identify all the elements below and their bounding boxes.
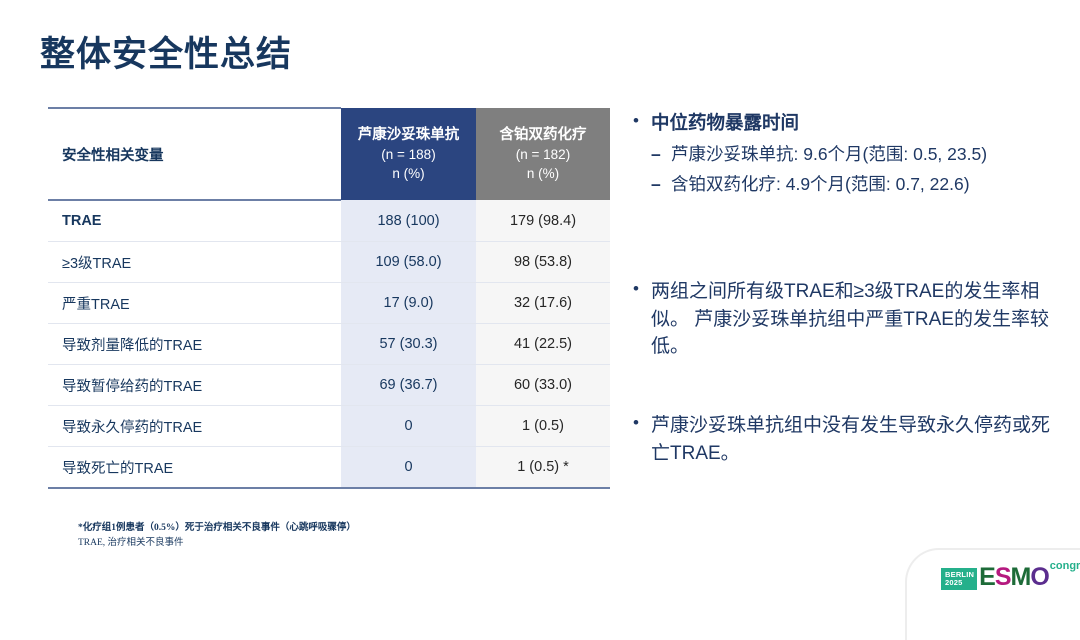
bullet-dot-icon: • — [633, 277, 639, 302]
bullet-item-exposure: • 中位药物暴露时间 – 芦康沙妥珠单抗: 9.6个月(范围: 0.5, 23.… — [631, 110, 1061, 197]
bullet-heading-exposure: 中位药物暴露时间 — [651, 112, 799, 133]
row-value-chemotherapy: 179 (98.4) — [476, 200, 610, 242]
row-label: TRAE — [48, 200, 341, 242]
row-label: 导致永久停药的TRAE — [48, 406, 341, 447]
row-label: ≥3级TRAE — [48, 242, 341, 283]
table-row: 导致死亡的TRAE 0 1 (0.5) * — [48, 447, 610, 488]
table-row: TRAE 188 (100) 179 (98.4) — [48, 200, 610, 242]
row-value-chemotherapy: 60 (33.0) — [476, 365, 610, 406]
table-row: 导致剂量降低的TRAE 57 (30.3) 41 (22.5) — [48, 324, 610, 365]
table-header-row: 安全性相关变量 芦康沙妥珠单抗 (n = 188) n (%) 含铂双药化疗 (… — [48, 108, 610, 200]
bullet-dot-icon: • — [633, 109, 639, 134]
key-points-block-2: • 两组之间所有级TRAE和≥3级TRAE的发生率相似。 芦康沙妥珠单抗组中严重… — [631, 278, 1051, 361]
esmo-letter-o: O — [1030, 565, 1048, 590]
esmo-letter-m: M — [1011, 565, 1031, 590]
sub-bullet-chemotherapy: – 含铂双药化疗: 4.9个月(范围: 0.7, 22.6) — [651, 173, 1061, 196]
key-points-block-3: • 芦康沙妥珠单抗组中没有发生导致永久停药或死亡TRAE。 — [631, 412, 1051, 467]
bullet-text-incidence: 两组之间所有级TRAE和≥3级TRAE的发生率相似。 芦康沙妥珠单抗组中严重TR… — [651, 281, 1049, 357]
berlin-2025-badge: BERLIN 2025 — [941, 568, 977, 590]
row-label: 严重TRAE — [48, 283, 341, 324]
row-value-sacituzumab: 0 — [341, 406, 476, 447]
congress-label: congress — [1050, 560, 1080, 572]
row-value-sacituzumab: 0 — [341, 447, 476, 488]
table-row: ≥3级TRAE 109 (58.0) 98 (53.8) — [48, 242, 610, 283]
sub-bullet-sacituzumab-text: 芦康沙妥珠单抗: 9.6个月(范围: 0.5, 23.5) — [671, 144, 987, 164]
footnote-asterisk: *化疗组1例患者（0.5%）死于治疗相关不良事件（心跳呼吸骤停） — [78, 521, 356, 536]
row-value-sacituzumab: 57 (30.3) — [341, 324, 476, 365]
esmo-wordmark: E S M O — [979, 565, 1049, 590]
bullet-text-discontinuation: 芦康沙妥珠单抗组中没有发生导致永久停药或死亡TRAE。 — [651, 415, 1050, 464]
table-row: 导致暂停给药的TRAE 69 (36.7) 60 (33.0) — [48, 365, 610, 406]
row-value-sacituzumab: 17 (9.0) — [341, 283, 476, 324]
row-value-chemotherapy: 32 (17.6) — [476, 283, 610, 324]
column-header-sacituzumab-name: 芦康沙妥珠单抗 — [341, 125, 476, 146]
bullet-item-discontinuation: • 芦康沙妥珠单抗组中没有发生导致永久停药或死亡TRAE。 — [631, 412, 1051, 467]
column-header-chemotherapy-unit: n (%) — [476, 164, 610, 183]
sub-bullet-list: – 芦康沙妥珠单抗: 9.6个月(范围: 0.5, 23.5) – 含铂双药化疗… — [651, 143, 1061, 197]
column-header-sacituzumab: 芦康沙妥珠单抗 (n = 188) n (%) — [341, 108, 476, 200]
row-value-chemotherapy: 1 (0.5) * — [476, 447, 610, 488]
footnotes: *化疗组1例患者（0.5%）死于治疗相关不良事件（心跳呼吸骤停） TRAE, 治… — [78, 521, 356, 550]
table-header: 安全性相关变量 芦康沙妥珠单抗 (n = 188) n (%) 含铂双药化疗 (… — [48, 108, 610, 200]
logo-year: 2025 — [945, 579, 974, 587]
slide-canvas: 整体安全性总结 安全性相关变量 芦康沙妥珠单抗 (n = 188) n (%) … — [0, 0, 1080, 608]
footnote-abbreviation: TRAE, 治疗相关不良事件 — [78, 536, 356, 551]
esmo-congress-logo: BERLIN 2025 E S M O congress — [941, 562, 1080, 590]
esmo-letter-e: E — [979, 565, 995, 590]
table-bottom-divider — [48, 487, 610, 489]
esmo-letter-s: S — [995, 565, 1011, 590]
column-header-variable: 安全性相关变量 — [48, 108, 341, 200]
sub-bullet-chemotherapy-text: 含铂双药化疗: 4.9个月(范围: 0.7, 22.6) — [671, 174, 970, 194]
safety-summary-table-container: 安全性相关变量 芦康沙妥珠单抗 (n = 188) n (%) 含铂双药化疗 (… — [48, 107, 610, 489]
row-value-sacituzumab: 69 (36.7) — [341, 365, 476, 406]
row-label: 导致暂停给药的TRAE — [48, 365, 341, 406]
table-row: 导致永久停药的TRAE 0 1 (0.5) — [48, 406, 610, 447]
bullet-item-incidence: • 两组之间所有级TRAE和≥3级TRAE的发生率相似。 芦康沙妥珠单抗组中严重… — [631, 278, 1051, 361]
column-header-chemotherapy-name: 含铂双药化疗 — [476, 125, 610, 146]
column-header-sacituzumab-n: (n = 188) — [341, 145, 476, 164]
row-label: 导致剂量降低的TRAE — [48, 324, 341, 365]
dash-icon: – — [651, 143, 661, 166]
row-label: 导致死亡的TRAE — [48, 447, 341, 488]
sub-bullet-sacituzumab: – 芦康沙妥珠单抗: 9.6个月(范围: 0.5, 23.5) — [651, 143, 1061, 166]
page-title: 整体安全性总结 — [40, 26, 292, 77]
column-header-chemotherapy-n: (n = 182) — [476, 145, 610, 164]
dash-icon: – — [651, 173, 661, 196]
key-points-block-1: • 中位药物暴露时间 – 芦康沙妥珠单抗: 9.6个月(范围: 0.5, 23.… — [631, 110, 1061, 197]
row-value-chemotherapy: 98 (53.8) — [476, 242, 610, 283]
row-value-sacituzumab: 188 (100) — [341, 200, 476, 242]
table-body: TRAE 188 (100) 179 (98.4) ≥3级TRAE 109 (5… — [48, 200, 610, 487]
column-header-sacituzumab-unit: n (%) — [341, 164, 476, 183]
row-value-sacituzumab: 109 (58.0) — [341, 242, 476, 283]
row-value-chemotherapy: 1 (0.5) — [476, 406, 610, 447]
bullet-dot-icon: • — [633, 411, 639, 436]
safety-summary-table: 安全性相关变量 芦康沙妥珠单抗 (n = 188) n (%) 含铂双药化疗 (… — [48, 107, 610, 487]
column-header-chemotherapy: 含铂双药化疗 (n = 182) n (%) — [476, 108, 610, 200]
row-value-chemotherapy: 41 (22.5) — [476, 324, 610, 365]
table-row: 严重TRAE 17 (9.0) 32 (17.6) — [48, 283, 610, 324]
